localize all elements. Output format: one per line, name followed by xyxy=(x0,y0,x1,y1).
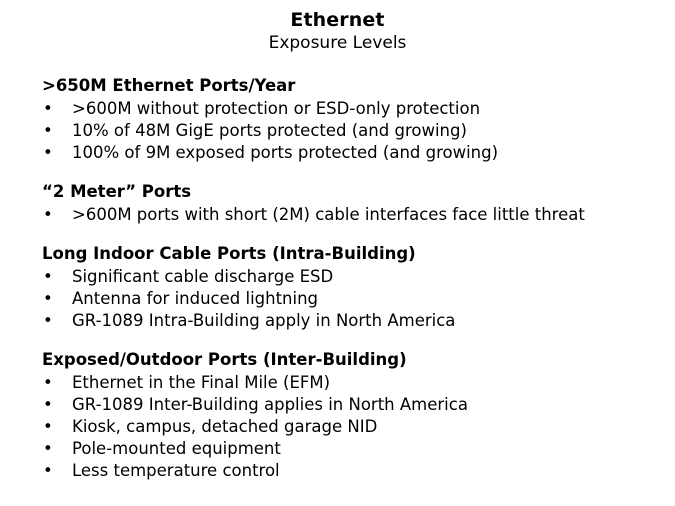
bullet-icon: • xyxy=(43,266,53,288)
list-item: • 100% of 9M exposed ports protected (an… xyxy=(42,142,657,164)
list-item-label: 100% of 9M exposed ports protected (and … xyxy=(72,143,498,162)
list-item-label: GR-1089 Inter-Building applies in North … xyxy=(72,395,468,414)
slide-title-block: Ethernet Exposure Levels xyxy=(0,0,675,55)
section-ethernet-ports-per-year: >650M Ethernet Ports/Year • >600M withou… xyxy=(42,75,657,164)
section-heading: Exposed/Outdoor Ports (Inter-Building) xyxy=(42,349,657,371)
list-item: • GR-1089 Inter-Building applies in Nort… xyxy=(42,394,657,416)
list-item-label: 10% of 48M GigE ports protected (and gro… xyxy=(72,121,467,140)
list-item: • Kiosk, campus, detached garage NID xyxy=(42,416,657,438)
list-item: • >600M ports with short (2M) cable inte… xyxy=(42,204,657,226)
bullet-icon: • xyxy=(43,460,53,482)
bullet-icon: • xyxy=(43,142,53,164)
section-heading: Long Indoor Cable Ports (Intra-Building) xyxy=(42,243,657,265)
list-item-label: Ethernet in the Final Mile (EFM) xyxy=(72,373,330,392)
section-heading: >650M Ethernet Ports/Year xyxy=(42,75,657,97)
list-item: • 10% of 48M GigE ports protected (and g… xyxy=(42,120,657,142)
bullet-icon: • xyxy=(43,120,53,142)
bullet-list: • >600M without protection or ESD-only p… xyxy=(42,98,657,164)
list-item: • GR-1089 Intra-Building apply in North … xyxy=(42,310,657,332)
bullet-icon: • xyxy=(43,98,53,120)
list-item-label: Significant cable discharge ESD xyxy=(72,267,333,286)
list-item-label: >600M ports with short (2M) cable interf… xyxy=(72,205,585,224)
list-item-label: GR-1089 Intra-Building apply in North Am… xyxy=(72,311,455,330)
bullet-icon: • xyxy=(43,288,53,310)
bullet-icon: • xyxy=(43,204,53,226)
bullet-list: • Significant cable discharge ESD • Ante… xyxy=(42,266,657,332)
section-two-meter-ports: “2 Meter” Ports • >600M ports with short… xyxy=(42,181,657,226)
slide-body: >650M Ethernet Ports/Year • >600M withou… xyxy=(0,55,675,482)
section-exposed-outdoor-ports: Exposed/Outdoor Ports (Inter-Building) •… xyxy=(42,349,657,482)
bullet-icon: • xyxy=(43,372,53,394)
list-item-label: Kiosk, campus, detached garage NID xyxy=(72,417,377,436)
list-item-label: Antenna for induced lightning xyxy=(72,289,318,308)
list-item: • Significant cable discharge ESD xyxy=(42,266,657,288)
bullet-icon: • xyxy=(43,394,53,416)
list-item: • >600M without protection or ESD-only p… xyxy=(42,98,657,120)
section-heading: “2 Meter” Ports xyxy=(42,181,657,203)
bullet-icon: • xyxy=(43,310,53,332)
slide-canvas: Ethernet Exposure Levels >650M Ethernet … xyxy=(0,0,675,506)
list-item-label: >600M without protection or ESD-only pro… xyxy=(72,99,480,118)
bullet-list: • Ethernet in the Final Mile (EFM) • GR-… xyxy=(42,372,657,482)
list-item: • Antenna for induced lightning xyxy=(42,288,657,310)
list-item: • Less temperature control xyxy=(42,460,657,482)
bullet-icon: • xyxy=(43,438,53,460)
bullet-list: • >600M ports with short (2M) cable inte… xyxy=(42,204,657,226)
section-long-indoor-cable-ports: Long Indoor Cable Ports (Intra-Building)… xyxy=(42,243,657,332)
bullet-icon: • xyxy=(43,416,53,438)
list-item: • Pole-mounted equipment xyxy=(42,438,657,460)
list-item-label: Pole-mounted equipment xyxy=(72,439,281,458)
list-item: • Ethernet in the Final Mile (EFM) xyxy=(42,372,657,394)
page-title: Ethernet xyxy=(0,8,675,32)
list-item-label: Less temperature control xyxy=(72,461,280,480)
page-subtitle: Exposure Levels xyxy=(0,32,675,55)
